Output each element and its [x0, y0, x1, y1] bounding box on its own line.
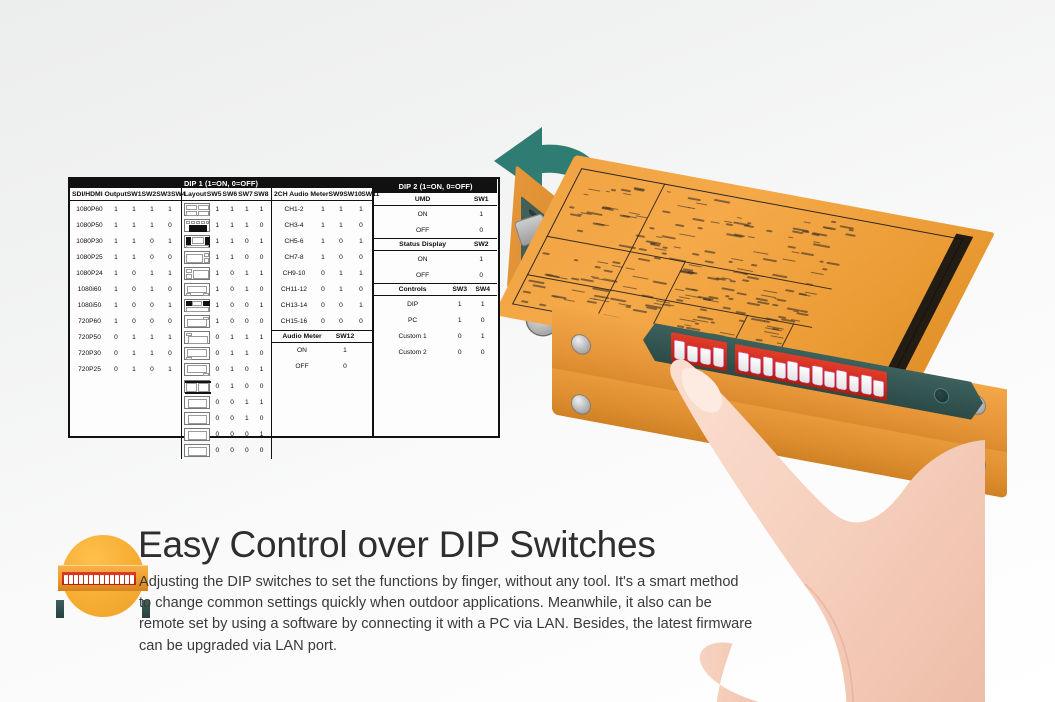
cell: 1	[254, 270, 269, 277]
layout-icon-cell	[184, 331, 210, 344]
cell: 0	[471, 317, 494, 324]
cell: 1	[314, 254, 332, 261]
table-row: Custom 200	[374, 345, 497, 361]
table-row: CH15-16000	[272, 314, 374, 330]
layout-rows: 1111111011011100101110101001100001110110…	[182, 201, 271, 459]
table-row: 720P300110	[70, 346, 181, 362]
cell: 0	[210, 383, 225, 390]
cell: 1	[330, 347, 360, 354]
layout-1-plus-1-bottomleft-icon	[184, 347, 210, 360]
table-row: CH13-14001	[272, 298, 374, 314]
cell: 0	[161, 222, 179, 229]
status-display-sw-header: SW2	[468, 241, 494, 248]
cell: 1	[314, 206, 332, 213]
cell: 1	[240, 270, 255, 277]
row-label: 720P30	[72, 350, 107, 357]
cell: 1	[210, 286, 225, 293]
badge-dip-switch	[79, 575, 83, 584]
layout-icon-cell	[184, 428, 210, 441]
cell: 1	[240, 350, 255, 357]
cell: 1	[314, 222, 332, 229]
cell: 1	[143, 286, 161, 293]
row-label: CH9-10	[274, 270, 314, 277]
cell: 1	[225, 254, 240, 261]
cell: 0	[350, 286, 372, 293]
audio-channels-header-label: 2CH Audio Meter	[274, 191, 329, 198]
table-row: 0110	[182, 346, 271, 362]
cell: 0	[240, 431, 255, 438]
table-row: 0101	[182, 362, 271, 378]
cell: 0	[468, 272, 494, 279]
layout-icon-cell	[184, 251, 210, 264]
cell: 1	[350, 302, 372, 309]
cell: 1	[143, 270, 161, 277]
cell: 0	[161, 350, 179, 357]
layout-icon-cell	[184, 396, 210, 409]
row-label: ON	[377, 211, 468, 218]
feature-badge-icon	[62, 535, 144, 617]
layout-1-plus-3-bottom-icon	[184, 299, 210, 312]
dip2-filler	[374, 361, 497, 436]
badge-end-left	[56, 600, 64, 618]
cell: 0	[210, 431, 225, 438]
cell: 1	[125, 366, 143, 373]
layout-full-1-icon	[184, 444, 210, 457]
dip1-title: DIP 1 (1=ON, 0=OFF)	[70, 179, 372, 188]
cell: 0	[332, 302, 350, 309]
table-row: 720P500111	[70, 330, 181, 346]
table-row: 1080P301101	[70, 233, 181, 249]
table-row: 0001	[182, 426, 271, 442]
layout-icon-cell	[184, 412, 210, 425]
cell: 1	[107, 254, 125, 261]
cell: 0	[254, 415, 269, 422]
cell: 1	[240, 206, 255, 213]
cell: 1	[254, 334, 269, 341]
layout-full-4-icon	[184, 396, 210, 409]
cell: 1	[471, 333, 494, 340]
resolution-sw-header: SW1	[127, 191, 142, 198]
cell: 1	[161, 366, 179, 373]
table-row: Custom 101	[374, 329, 497, 345]
cell: 1	[125, 350, 143, 357]
page-title: Easy Control over DIP Switches	[138, 524, 838, 566]
cell: 0	[143, 238, 161, 245]
cell: 0	[314, 286, 332, 293]
audio-meter-sw-header: SW12	[330, 333, 360, 340]
lower-screw-left	[572, 394, 590, 415]
cell: 0	[225, 286, 240, 293]
cell: 1	[107, 206, 125, 213]
cell: 1	[240, 415, 255, 422]
table-row: ON1	[374, 206, 497, 222]
row-label: 1080i50	[72, 302, 107, 309]
audio-sw-header: SW9	[329, 191, 344, 198]
cell: 1	[332, 206, 350, 213]
status-display-header: Status Display SW2	[374, 238, 497, 251]
controls-sw-header: SW4	[471, 286, 494, 293]
layout-sw-header: SW5	[206, 191, 222, 198]
cell: 1	[225, 238, 240, 245]
table-row: 1080P241011	[70, 265, 181, 281]
table-row: 1001	[182, 298, 271, 314]
table-row: 1100	[182, 249, 271, 265]
layout-sw-header: SW8	[253, 191, 269, 198]
cell: 1	[225, 350, 240, 357]
row-label: CH13-14	[274, 302, 314, 309]
cell: 1	[332, 270, 350, 277]
cell: 1	[125, 222, 143, 229]
layout-1-plus-1-bottomright-icon	[184, 363, 210, 376]
row-label: OFF	[274, 363, 330, 370]
table-row: 1110	[182, 217, 271, 233]
cell: 0	[225, 431, 240, 438]
cell: 1	[254, 238, 269, 245]
cell: 0	[225, 415, 240, 422]
layout-sw-header: SW7	[238, 191, 254, 198]
cell: 1	[350, 238, 372, 245]
table-row: 0010	[182, 410, 271, 426]
table-row: CH9-10011	[272, 265, 374, 281]
table-row: 1080P251100	[70, 249, 181, 265]
cell: 1	[471, 301, 494, 308]
badge-dip-switch	[69, 575, 73, 584]
cell: 1	[332, 286, 350, 293]
layout-full-3-icon	[184, 412, 210, 425]
cell: 1	[107, 238, 125, 245]
dip2-title: DIP 2 (1=ON, 0=OFF)	[374, 179, 497, 193]
layout-full-2-icon	[184, 428, 210, 441]
cell: 0	[143, 366, 161, 373]
layout-1-plus-left-grid-icon	[184, 267, 210, 280]
cell: 0	[314, 302, 332, 309]
cell: 0	[471, 349, 494, 356]
cell: 0	[468, 227, 494, 234]
cell: 0	[254, 318, 269, 325]
cell: 0	[240, 447, 255, 454]
cell: 0	[254, 222, 269, 229]
cell: 0	[210, 447, 225, 454]
layout-1-plus-sides-icon	[184, 235, 210, 248]
cell: 1	[254, 206, 269, 213]
row-label: CH7-8	[274, 254, 314, 261]
cell: 0	[210, 350, 225, 357]
cell: 1	[225, 366, 240, 373]
badge-dip-switch	[115, 575, 119, 584]
cell: 0	[448, 349, 471, 356]
resolution-subtable: SDI/HDMI Output SW1 SW2 SW3 SW4 1080P601…	[70, 188, 182, 459]
cell: 1	[468, 256, 494, 263]
cell: 1	[240, 399, 255, 406]
badge-dip-switch	[105, 575, 109, 584]
row-label: 1080i60	[72, 286, 107, 293]
cell: 1	[107, 318, 125, 325]
cell: 1	[210, 318, 225, 325]
cell: 0	[125, 318, 143, 325]
cell: 1	[240, 286, 255, 293]
audio-meter-header-label: Audio Meter	[274, 333, 330, 340]
row-label: CH15-16	[274, 318, 314, 325]
table-row: 0000	[182, 442, 271, 458]
table-row: OFF0	[374, 222, 497, 238]
cell: 1	[225, 206, 240, 213]
cell: 0	[254, 447, 269, 454]
row-label: ON	[274, 347, 330, 354]
cell: 0	[125, 286, 143, 293]
table-row: 1000	[182, 314, 271, 330]
cell: 1	[225, 222, 240, 229]
table-row: OFF0	[374, 267, 497, 283]
table-row: 1080i601010	[70, 281, 181, 297]
table-row: PC10	[374, 312, 497, 328]
controls-sw-header: SW3	[448, 286, 471, 293]
layout-1-plus-1-topright-icon	[184, 315, 210, 328]
cell: 1	[210, 222, 225, 229]
cell: 1	[448, 317, 471, 324]
badge-dip-switch	[120, 575, 124, 584]
audio-meter-rows: ON1 OFF0	[272, 343, 374, 375]
badge-dip-switch	[125, 575, 129, 584]
cell: 1	[240, 334, 255, 341]
cell: 0	[225, 302, 240, 309]
cell: 0	[143, 302, 161, 309]
cell: 1	[107, 270, 125, 277]
audio-channel-rows: CH1-2111 CH3-4110 CH5-6101 CH7-8100 CH9-…	[272, 201, 374, 330]
layout-icon-cell	[184, 283, 210, 296]
resolution-sw-header: SW2	[141, 191, 156, 198]
layout-1-plus-5-bottom-icon	[184, 219, 210, 232]
cell: 1	[161, 270, 179, 277]
cell: 1	[350, 206, 372, 213]
layout-icon-cell	[184, 363, 210, 376]
cell: 0	[448, 333, 471, 340]
row-label: OFF	[377, 272, 468, 279]
table-row: CH7-8100	[272, 249, 374, 265]
audio-channels-header: 2CH Audio Meter SW9 SW10 SW11	[272, 188, 374, 201]
cell: 1	[448, 301, 471, 308]
cell: 0	[240, 366, 255, 373]
cell: 1	[332, 222, 350, 229]
cell: 0	[240, 383, 255, 390]
badge-device-strip	[58, 565, 148, 591]
cell: 0	[210, 399, 225, 406]
cell: 1	[161, 206, 179, 213]
cell: 0	[107, 350, 125, 357]
cell: 0	[161, 286, 179, 293]
cell: 0	[254, 286, 269, 293]
cell: 0	[210, 366, 225, 373]
cell: 0	[125, 270, 143, 277]
layout-sw-header: SW6	[222, 191, 238, 198]
cell: 1	[240, 222, 255, 229]
dip1-column: DIP 1 (1=ON, 0=OFF) SDI/HDMI Output SW1 …	[70, 179, 374, 436]
badge-dip-switch	[64, 575, 68, 584]
table-row: CH1-2111	[272, 201, 374, 217]
table-row: 1111	[182, 201, 271, 217]
resolution-sw-header: SW3	[156, 191, 171, 198]
row-label: 720P60	[72, 318, 107, 325]
layout-subtable: Layout SW5 SW6 SW7 SW8 11111110110111001…	[182, 188, 272, 459]
badge-dip-switch	[89, 575, 93, 584]
cell: 1	[254, 302, 269, 309]
layout-icon-cell	[184, 380, 210, 393]
row-label: Custom 2	[377, 349, 448, 356]
layout-icon-cell	[184, 235, 210, 248]
table-row: DIP11	[374, 296, 497, 312]
table-row: 0100	[182, 378, 271, 394]
cell: 1	[125, 254, 143, 261]
table-row: CH11-12010	[272, 281, 374, 297]
cell: 1	[468, 211, 494, 218]
cell: 0	[240, 318, 255, 325]
table-row: 1011	[182, 265, 271, 281]
resolution-rows: 1080P601111 1080P501110 1080P301101 1080…	[70, 201, 181, 459]
table-row: 1010	[182, 281, 271, 297]
audio-subtable: 2CH Audio Meter SW9 SW10 SW11 CH1-2111 C…	[272, 188, 374, 459]
layout-icon-cell	[184, 315, 210, 328]
badge-dip-switch	[94, 575, 98, 584]
row-label: CH11-12	[274, 286, 314, 293]
row-label: 1080P25	[72, 254, 107, 261]
table-row: 1080P601111	[70, 201, 181, 217]
cell: 0	[350, 254, 372, 261]
layout-header-label: Layout	[184, 191, 206, 198]
table-row: 720P250101	[70, 362, 181, 378]
cell: 0	[225, 447, 240, 454]
cell: 0	[161, 318, 179, 325]
status-display-header-label: Status Display	[377, 241, 468, 248]
cell: 0	[143, 318, 161, 325]
layout-header: Layout SW5 SW6 SW7 SW8	[182, 188, 271, 201]
row-label: OFF	[377, 227, 468, 234]
dip-settings-table: DIP 1 (1=ON, 0=OFF) SDI/HDMI Output SW1 …	[68, 177, 500, 438]
table-row: 0011	[182, 394, 271, 410]
cell: 0	[107, 366, 125, 373]
cell: 1	[210, 206, 225, 213]
table-row: ON1	[272, 343, 374, 359]
cell: 1	[125, 238, 143, 245]
cell: 1	[254, 431, 269, 438]
badge-dip-switch	[110, 575, 114, 584]
layout-icon-cell	[184, 347, 210, 360]
row-label: PC	[377, 317, 448, 324]
cell: 0	[225, 270, 240, 277]
cell: 0	[143, 254, 161, 261]
controls-header-label: Controls	[377, 286, 448, 293]
cell: 1	[143, 350, 161, 357]
cell: 1	[125, 206, 143, 213]
umd-header-label: UMD	[377, 196, 468, 203]
table-row: 1080P501110	[70, 217, 181, 233]
row-label: CH5-6	[274, 238, 314, 245]
table-row: 0111	[182, 330, 271, 346]
row-label: CH3-4	[274, 222, 314, 229]
dip2-column: DIP 2 (1=ON, 0=OFF) UMD SW1 ON1 OFF0 Sta…	[374, 179, 497, 436]
layout-icon-cell	[184, 203, 210, 216]
cell: 0	[240, 302, 255, 309]
cell: 1	[125, 334, 143, 341]
row-label: Custom 1	[377, 333, 448, 340]
row-label: ON	[377, 256, 468, 263]
cell: 1	[225, 383, 240, 390]
cell: 0	[107, 334, 125, 341]
badge-dip-switch	[84, 575, 88, 584]
layout-quad-4split-icon	[184, 203, 210, 216]
table-row: 1101	[182, 233, 271, 249]
row-label: DIP	[377, 301, 448, 308]
layout-icon-cell	[184, 267, 210, 280]
cell: 1	[161, 302, 179, 309]
row-label: 1080P50	[72, 222, 107, 229]
cell: 1	[107, 286, 125, 293]
cell: 1	[161, 334, 179, 341]
cell: 0	[350, 222, 372, 229]
cell: 0	[210, 334, 225, 341]
cell: 0	[161, 254, 179, 261]
cell: 0	[240, 254, 255, 261]
layout-1-plus-2-corners-icon	[184, 283, 210, 296]
cell: 0	[332, 318, 350, 325]
table-row: ON1	[374, 251, 497, 267]
cell: 1	[143, 334, 161, 341]
badge-dip-switches	[62, 572, 136, 585]
cell: 1	[210, 270, 225, 277]
cell: 1	[350, 270, 372, 277]
cell: 1	[161, 238, 179, 245]
cell: 0	[330, 363, 360, 370]
cell: 0	[350, 318, 372, 325]
row-label: 720P25	[72, 366, 107, 373]
cell: 0	[225, 399, 240, 406]
cell: 0	[210, 415, 225, 422]
table-row: OFF0	[272, 359, 374, 375]
row-label: 1080P60	[72, 206, 107, 213]
row-label: 1080P30	[72, 238, 107, 245]
table-row: 1080i501001	[70, 298, 181, 314]
cell: 0	[254, 383, 269, 390]
cell: 0	[332, 238, 350, 245]
audio-meter-header: Audio Meter SW12	[272, 330, 374, 343]
table-row: CH3-4110	[272, 217, 374, 233]
row-label: 720P50	[72, 334, 107, 341]
badge-dip-switch	[74, 575, 78, 584]
cell: 1	[107, 222, 125, 229]
cell: 1	[210, 238, 225, 245]
cell: 0	[314, 318, 332, 325]
cell: 1	[254, 366, 269, 373]
umd-header: UMD SW1	[374, 193, 497, 206]
controls-header: Controls SW3 SW4	[374, 283, 497, 296]
layout-icon-cell	[184, 444, 210, 457]
cell: 0	[240, 238, 255, 245]
cell: 0	[225, 318, 240, 325]
resolution-header-label: SDI/HDMI Output	[72, 191, 127, 198]
cell: 1	[225, 334, 240, 341]
layout-1-plus-right-col-icon	[184, 251, 210, 264]
layout-1-plus-1-topleft-icon	[184, 331, 210, 344]
badge-dip-switch	[130, 575, 134, 584]
cell: 1	[210, 254, 225, 261]
badge-dip-switch	[100, 575, 104, 584]
cell: 1	[143, 222, 161, 229]
cell: 1	[314, 238, 332, 245]
layout-icon-cell	[184, 299, 210, 312]
layout-dual-split-icon	[184, 380, 210, 393]
resolution-header: SDI/HDMI Output SW1 SW2 SW3 SW4	[70, 188, 181, 201]
layout-icon-cell	[184, 219, 210, 232]
row-label: CH1-2	[274, 206, 314, 213]
table-row: 720P601000	[70, 314, 181, 330]
